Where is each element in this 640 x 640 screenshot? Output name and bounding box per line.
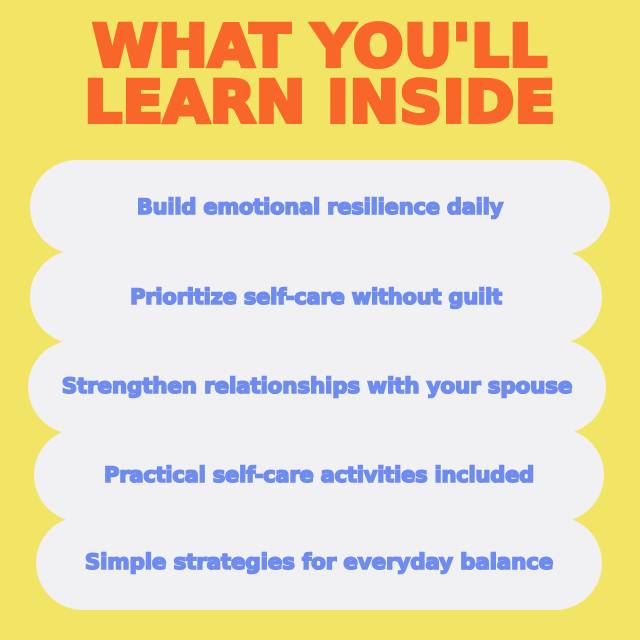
list-item: Practical self-care activities included <box>34 428 604 522</box>
list-item-label: Simple strategies for everyday balance <box>85 552 553 574</box>
list-item: Strengthen relationships with your spous… <box>28 340 606 434</box>
list-item-label: Strengthen relationships with your spous… <box>62 376 572 398</box>
list-item-label: Prioritize self-care without guilt <box>130 287 502 308</box>
list-item: Build emotional resilience daily <box>30 160 610 254</box>
list-item: Prioritize self-care without guilt <box>30 250 602 344</box>
benefits-list: Build emotional resilience daily Priorit… <box>0 0 640 640</box>
list-item: Simple strategies for everyday balance <box>36 516 602 610</box>
list-item-label: Build emotional resilience daily <box>137 197 503 218</box>
list-item-label: Practical self-care activities included <box>104 465 534 486</box>
